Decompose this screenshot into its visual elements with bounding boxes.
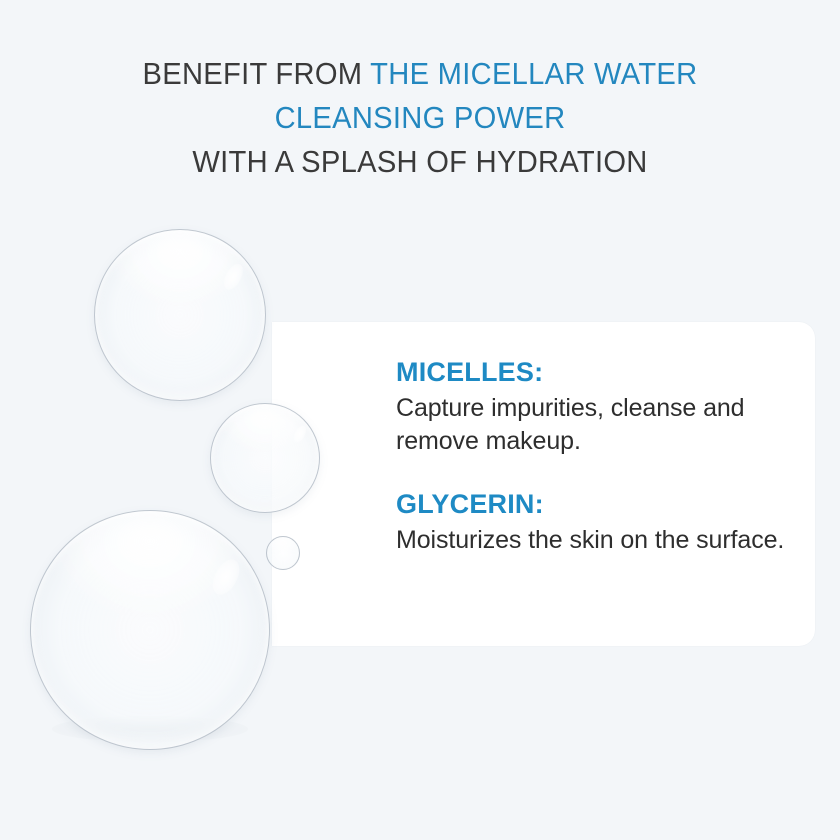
ingredient-item-glycerin: GLYCERIN: Moisturizes the skin on the su… bbox=[396, 488, 786, 557]
ingredient-title-micelles: MICELLES: bbox=[396, 356, 786, 389]
water-droplet-tiny-icon bbox=[266, 536, 300, 570]
page-title: BENEFIT FROM THE MICELLAR WATER CLEANSIN… bbox=[0, 52, 840, 184]
ingredient-title-glycerin: GLYCERIN: bbox=[396, 488, 786, 521]
headline-line-2: CLEANSING POWER bbox=[25, 96, 815, 140]
headline-line-1: BENEFIT FROM THE MICELLAR WATER bbox=[25, 52, 815, 96]
ingredient-description-micelles: Capture impurities, cleanse and remove m… bbox=[396, 392, 786, 458]
promo-graphic: BENEFIT FROM THE MICELLAR WATER CLEANSIN… bbox=[0, 0, 840, 840]
water-droplet-large-icon bbox=[30, 510, 270, 750]
ingredient-description-glycerin: Moisturizes the skin on the surface. bbox=[396, 524, 786, 557]
water-droplet-medium-icon bbox=[210, 403, 320, 513]
ingredient-item-micelles: MICELLES: Capture impurities, cleanse an… bbox=[396, 356, 786, 458]
ingredient-list: MICELLES: Capture impurities, cleanse an… bbox=[396, 356, 786, 557]
headline-line-1-blue: THE MICELLAR WATER bbox=[370, 56, 697, 91]
headline-line-1-dark: BENEFIT FROM bbox=[143, 56, 371, 91]
water-droplet-top-icon bbox=[94, 229, 266, 401]
headline-line-3: WITH A SPLASH OF HYDRATION bbox=[25, 140, 815, 184]
